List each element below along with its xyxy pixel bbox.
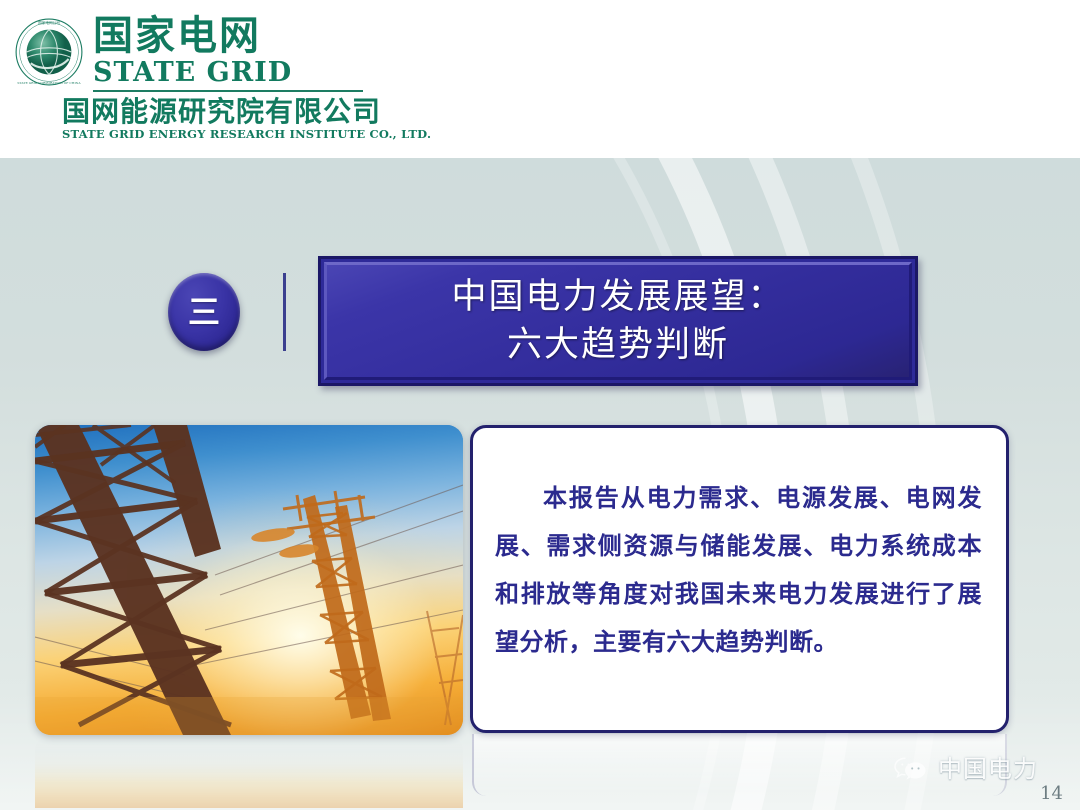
section-number-label: 三 xyxy=(188,296,220,328)
svg-text:国家电网公司: 国家电网公司 xyxy=(38,20,60,25)
section-number-badge: 三 xyxy=(168,273,240,351)
wechat-icon xyxy=(893,755,931,783)
brand-text-block: 国家电网 STATE GRID xyxy=(93,14,292,88)
section-badge-divider xyxy=(283,273,286,351)
photo-reflection xyxy=(35,736,463,808)
slide-canvas: 国家电网公司 STATE GRID CORPORATION OF CHINA 国… xyxy=(0,0,1080,810)
section-title-line-1: 中国电力发展展望： xyxy=(451,273,784,321)
slide-header: 国家电网公司 STATE GRID CORPORATION OF CHINA 国… xyxy=(0,0,1080,158)
photo-tower-illustration xyxy=(35,425,463,735)
institute-text-block: 国网能源研究院有限公司 STATE GRID ENERGY RESEARCH I… xyxy=(62,96,431,141)
svg-text:STATE GRID CORPORATION OF CHIN: STATE GRID CORPORATION OF CHINA xyxy=(17,81,81,85)
brand-divider-rule xyxy=(93,90,363,92)
page-number: 14 xyxy=(1040,783,1063,805)
institute-name-cn: 国网能源研究院有限公司 xyxy=(62,96,431,127)
institute-name-en: STATE GRID ENERGY RESEARCH INSTITUTE CO.… xyxy=(62,127,431,141)
brand-name-en: STATE GRID xyxy=(93,58,292,88)
transmission-tower-photo xyxy=(35,425,463,735)
summary-paragraph: 本报告从电力需求、电源发展、电网发展、需求侧资源与储能发展、电力系统成本和排放等… xyxy=(495,474,982,666)
section-title-plate: 中国电力发展展望： 六大趋势判断 xyxy=(318,256,918,386)
state-grid-globe-logo-icon: 国家电网公司 STATE GRID CORPORATION OF CHINA xyxy=(14,17,84,87)
section-title-line-2: 六大趋势判断 xyxy=(507,321,729,369)
brand-name-cn: 国家电网 xyxy=(93,14,292,58)
watermark-label: 中国电力 xyxy=(938,755,1038,783)
summary-text-card: 本报告从电力需求、电源发展、电网发展、需求侧资源与储能发展、电力系统成本和排放等… xyxy=(470,425,1009,733)
section-title-inner: 中国电力发展展望： 六大趋势判断 xyxy=(324,262,912,380)
wechat-watermark: 中国电力 xyxy=(893,755,1038,783)
